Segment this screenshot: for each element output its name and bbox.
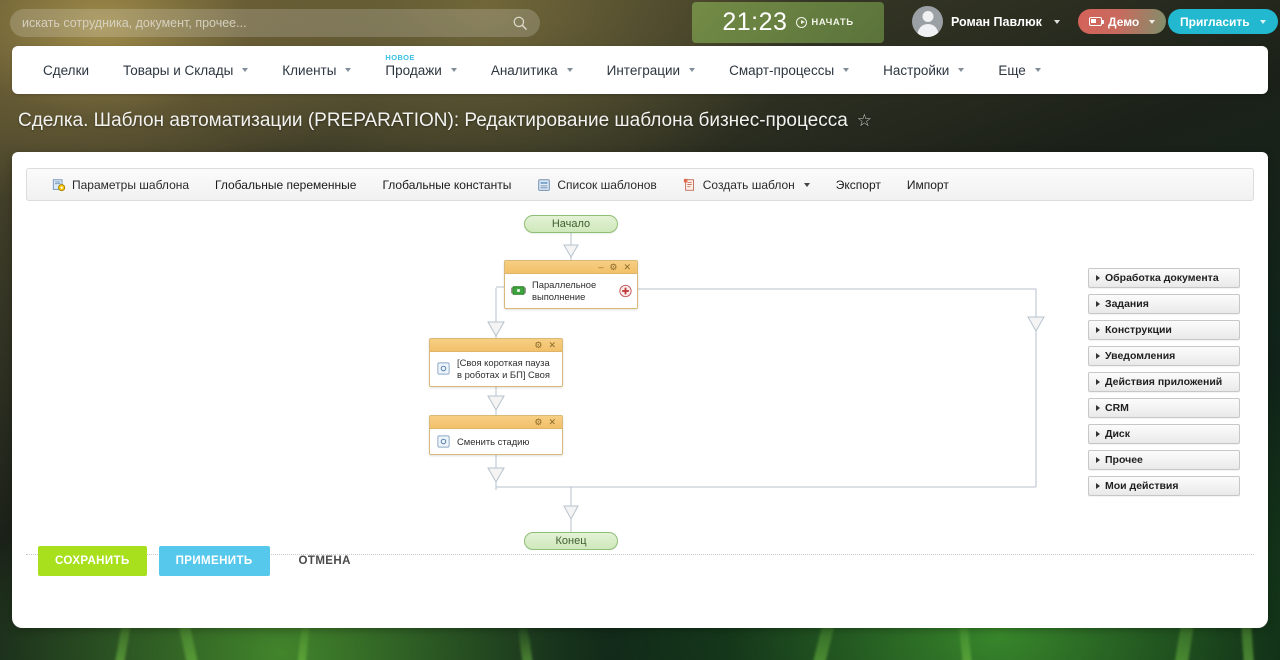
- nav-label: Еще: [998, 63, 1025, 78]
- toolbar-template-list[interactable]: Список шаблонов: [524, 168, 669, 201]
- toolbar-create-template[interactable]: Создать шаблон: [670, 168, 823, 201]
- nav-label: Смарт-процессы: [729, 63, 834, 78]
- chevron-down-icon: [567, 68, 573, 72]
- accordion-item-app-actions[interactable]: Действия приложений: [1088, 372, 1240, 392]
- actions-accordion: Обработка документа Задания Конструкции …: [1088, 268, 1240, 502]
- search-icon[interactable]: [512, 15, 528, 31]
- toolbar-global-variables[interactable]: Глобальные переменные: [202, 168, 369, 201]
- accordion-label: Действия приложений: [1105, 376, 1222, 388]
- nav-item-integrations[interactable]: Интеграции: [590, 46, 712, 94]
- accordion-item-document-processing[interactable]: Обработка документа: [1088, 268, 1240, 288]
- add-branch-icon[interactable]: [619, 284, 632, 297]
- timer-start-label: НАЧАТЬ: [811, 17, 853, 28]
- timer-start-button[interactable]: НАЧАТЬ: [796, 17, 853, 28]
- search-input[interactable]: [22, 16, 512, 30]
- toolbar-export[interactable]: Экспорт: [823, 168, 894, 201]
- node-header: ⚙ ✕: [430, 416, 562, 429]
- connector-lines: [26, 210, 1254, 550]
- save-button[interactable]: СОХРАНИТЬ: [38, 546, 147, 576]
- minimize-icon[interactable]: –: [598, 263, 603, 272]
- accordion-item-other[interactable]: Прочее: [1088, 450, 1240, 470]
- node-change-stage[interactable]: ⚙ ✕ Сменить стадию: [429, 415, 563, 455]
- close-icon[interactable]: ✕: [548, 418, 556, 427]
- chevron-down-icon: [843, 68, 849, 72]
- bp-toolbar: Параметры шаблона Глобальные переменные …: [26, 168, 1254, 201]
- bp-canvas[interactable]: Начало – ⚙ ✕ Параллельное выполнение: [26, 210, 1254, 550]
- node-header: ⚙ ✕: [430, 339, 562, 352]
- demo-button[interactable]: Демо: [1078, 9, 1166, 34]
- chevron-right-icon: [1096, 327, 1100, 333]
- node-label: Сменить стадию: [457, 436, 529, 448]
- node-header: – ⚙ ✕: [505, 261, 637, 274]
- chevron-down-icon: [689, 68, 695, 72]
- chevron-down-icon: [958, 68, 964, 72]
- nav-item-more[interactable]: Еще: [981, 46, 1057, 94]
- chevron-down-icon[interactable]: [1054, 20, 1060, 24]
- node-parallel-execution[interactable]: – ⚙ ✕ Параллельное выполнение: [504, 260, 638, 309]
- timer-value: 21:23: [722, 8, 787, 37]
- invite-label: Пригласить: [1180, 15, 1250, 29]
- bp-editor-panel: Параметры шаблона Глобальные переменные …: [12, 152, 1268, 628]
- accordion-item-tasks[interactable]: Задания: [1088, 294, 1240, 314]
- accordion-label: Мои действия: [1105, 480, 1179, 492]
- accordion-label: Задания: [1105, 298, 1149, 310]
- nav-label: Клиенты: [282, 63, 336, 78]
- page-title: Сделка. Шаблон автоматизации (PREPARATIO…: [18, 110, 872, 132]
- accordion-item-my-actions[interactable]: Мои действия: [1088, 476, 1240, 496]
- toolbar-label: Экспорт: [836, 178, 881, 192]
- accordion-item-constructions[interactable]: Конструкции: [1088, 320, 1240, 340]
- toolbar-label: Импорт: [907, 178, 949, 192]
- new-badge: НОВОЕ: [385, 53, 414, 62]
- node-start[interactable]: Начало: [524, 215, 618, 233]
- nav-item-deals[interactable]: Сделки: [26, 46, 106, 94]
- toolbar-label: Создать шаблон: [703, 178, 795, 192]
- node-body: Сменить стадию: [430, 429, 562, 454]
- nav-label: Настройки: [883, 63, 949, 78]
- create-template-icon: [683, 178, 697, 192]
- chevron-right-icon: [1096, 483, 1100, 489]
- toolbar-template-settings[interactable]: Параметры шаблона: [39, 168, 202, 201]
- chevron-down-icon[interactable]: [1260, 20, 1266, 24]
- nav-item-smart-processes[interactable]: Смарт-процессы: [712, 46, 866, 94]
- toolbar-import[interactable]: Импорт: [894, 168, 962, 201]
- toolbar-label: Глобальные константы: [382, 178, 511, 192]
- activity-icon: [436, 434, 451, 449]
- nav-item-settings[interactable]: Настройки: [866, 46, 981, 94]
- chevron-down-icon: [242, 68, 248, 72]
- toolbar-global-constants[interactable]: Глобальные константы: [369, 168, 524, 201]
- accordion-item-notifications[interactable]: Уведомления: [1088, 346, 1240, 366]
- work-timer[interactable]: 21:23 НАЧАТЬ: [692, 2, 884, 43]
- node-label: [Своя короткая пауза в роботах и БП] Сво…: [457, 357, 556, 381]
- nav-item-sales[interactable]: НОВОЕ Продажи: [368, 46, 473, 94]
- nav-label: Товары и Склады: [123, 63, 233, 78]
- top-bar: 21:23 НАЧАТЬ Роман Павлюк Демо Пригласит…: [0, 0, 1280, 45]
- template-settings-icon: [52, 178, 66, 192]
- accordion-label: Уведомления: [1105, 350, 1175, 362]
- global-search[interactable]: [10, 9, 540, 37]
- node-body: [Своя короткая пауза в роботах и БП] Сво…: [430, 352, 562, 386]
- apply-button[interactable]: ПРИМЕНИТЬ: [159, 546, 270, 576]
- node-body: Параллельное выполнение: [505, 274, 637, 308]
- node-end[interactable]: Конец: [524, 532, 618, 550]
- gear-icon[interactable]: ⚙: [609, 263, 617, 272]
- node-start-label: Начало: [552, 218, 590, 230]
- node-custom-pause[interactable]: ⚙ ✕ [Своя короткая пауза в роботах и БП]…: [429, 338, 563, 387]
- close-icon[interactable]: ✕: [623, 263, 631, 272]
- chevron-down-icon[interactable]: [1149, 20, 1155, 24]
- toolbar-label: Параметры шаблона: [72, 178, 189, 192]
- chevron-down-icon: [451, 68, 457, 72]
- chevron-right-icon: [1096, 431, 1100, 437]
- accordion-item-disk[interactable]: Диск: [1088, 424, 1240, 444]
- nav-label: Аналитика: [491, 63, 558, 78]
- toolbar-label: Глобальные переменные: [215, 178, 356, 192]
- invite-button[interactable]: Пригласить: [1168, 9, 1278, 34]
- chevron-right-icon: [1096, 457, 1100, 463]
- user-name: Роман Павлюк: [951, 15, 1042, 29]
- parallel-execution-icon: [511, 283, 526, 298]
- battery-icon: [1089, 17, 1102, 26]
- nav-item-analytics[interactable]: Аналитика: [474, 46, 590, 94]
- gear-icon[interactable]: ⚙: [534, 341, 542, 350]
- user-menu[interactable]: Роман Павлюк: [912, 6, 1060, 37]
- chevron-right-icon: [1096, 301, 1100, 307]
- gear-icon[interactable]: ⚙: [534, 418, 542, 427]
- chevron-down-icon: [804, 183, 810, 187]
- nav-label: Интеграции: [607, 63, 680, 78]
- star-icon[interactable]: ☆: [857, 111, 872, 131]
- accordion-label: Обработка документа: [1105, 272, 1219, 284]
- chevron-right-icon: [1096, 379, 1100, 385]
- chevron-down-icon: [1035, 68, 1041, 72]
- accordion-label: Диск: [1105, 428, 1130, 440]
- accordion-label: CRM: [1105, 402, 1129, 414]
- accordion-label: Прочее: [1105, 454, 1143, 466]
- chevron-down-icon: [345, 68, 351, 72]
- chevron-right-icon: [1096, 275, 1100, 281]
- avatar[interactable]: [912, 6, 943, 37]
- node-end-label: Конец: [555, 535, 586, 547]
- chevron-right-icon: [1096, 405, 1100, 411]
- main-navigation: Сделки Товары и Склады Клиенты НОВОЕ Про…: [12, 46, 1268, 94]
- cancel-button[interactable]: ОТМЕНА: [282, 546, 368, 576]
- activity-icon: [436, 361, 451, 376]
- accordion-label: Конструкции: [1105, 324, 1172, 336]
- play-icon: [796, 17, 807, 28]
- form-actions: СОХРАНИТЬ ПРИМЕНИТЬ ОТМЕНА: [38, 546, 368, 576]
- demo-label: Демо: [1108, 15, 1139, 29]
- close-icon[interactable]: ✕: [548, 341, 556, 350]
- chevron-right-icon: [1096, 353, 1100, 359]
- template-list-icon: [537, 178, 551, 192]
- nav-label: Продажи: [385, 63, 441, 78]
- page-title-text: Сделка. Шаблон автоматизации (PREPARATIO…: [18, 110, 848, 132]
- nav-label: Сделки: [43, 63, 89, 78]
- nav-item-products-warehouses[interactable]: Товары и Склады: [106, 46, 265, 94]
- accordion-item-crm[interactable]: CRM: [1088, 398, 1240, 418]
- node-label: Параллельное выполнение: [532, 279, 614, 303]
- toolbar-label: Список шаблонов: [557, 178, 656, 192]
- nav-item-clients[interactable]: Клиенты: [265, 46, 368, 94]
